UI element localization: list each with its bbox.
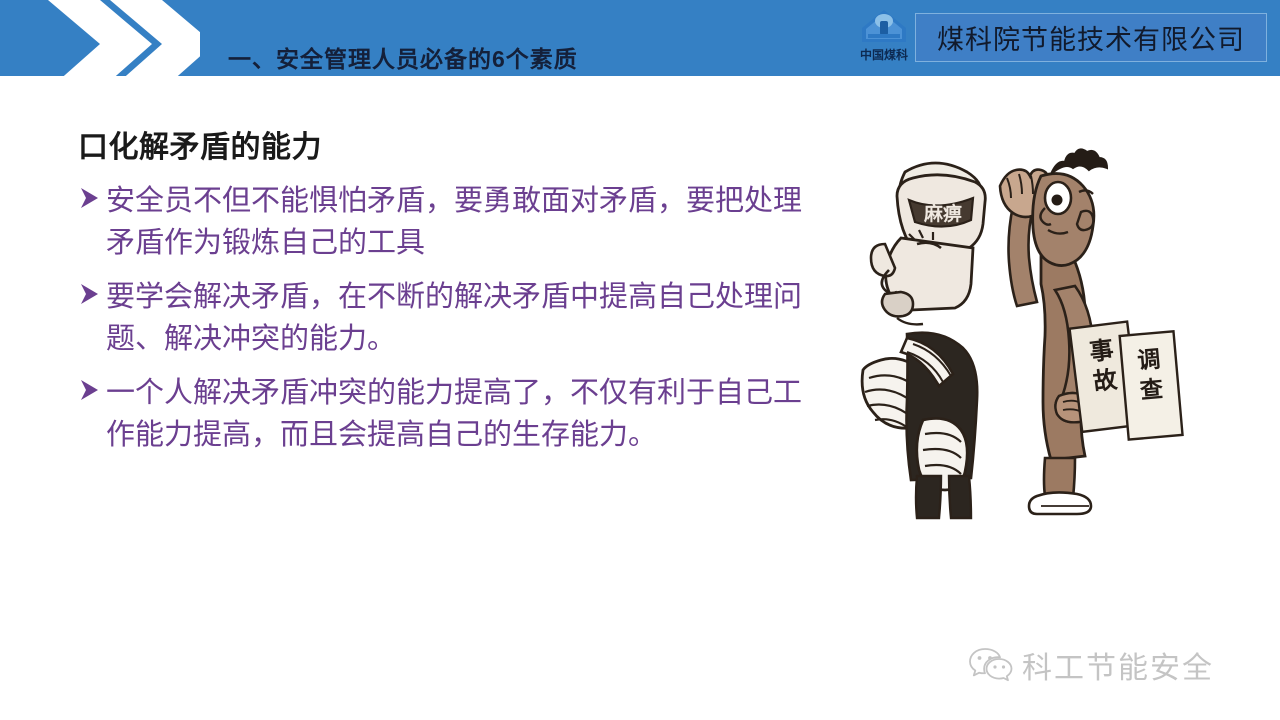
bullet-list: 安全员不但不能惧怕矛盾，要勇敢面对矛盾，要把处理矛盾作为锻炼自己的工具 要学会解… [78, 180, 808, 456]
list-item-label: 安全员不但不能惧怕矛盾，要勇敢面对矛盾，要把处理矛盾作为锻炼自己的工具 [106, 185, 802, 259]
watermark: 科工节能安全 [968, 640, 1258, 690]
list-item-label: 一个人解决矛盾冲突的能力提高了，不仅有利于自己工作能力提高，而且会提高自己的生存… [106, 377, 802, 451]
page-title: 一、安全管理人员必备的6个素质 [228, 44, 578, 74]
list-item-label: 要学会解决矛盾，在不断的解决矛盾中提高自己处理问题、解决冲突的能力。 [106, 281, 802, 355]
arrowhead-right-bullet-icon [78, 374, 100, 408]
accident-investigation-cartoon-illustration: 事 故 调 查 麻痹 [845, 138, 1195, 520]
wechat-logo-icon [968, 646, 1014, 684]
company-name-box: 煤科院节能技术有限公司 [915, 13, 1267, 62]
list-item: 一个人解决矛盾冲突的能力提高了，不仅有利于自己工作能力提高，而且会提高自己的生存… [78, 372, 808, 456]
list-item: 安全员不但不能惧怕矛盾，要勇敢面对矛盾，要把处理矛盾作为锻炼自己的工具 [78, 180, 808, 264]
arrowhead-right-bullet-icon [78, 182, 100, 216]
arrowhead-right-bullet-icon [78, 278, 100, 312]
slide-content: 口化解矛盾的能力 安全员不但不能惧怕矛盾，要勇敢面对矛盾，要把处理矛盾作为锻炼自… [78, 128, 808, 468]
slide-canvas: 一、安全管理人员必备的6个素质 中国煤科 煤科院节能技术有限公司 口化解矛盾的能… [0, 0, 1280, 720]
svg-text:查: 查 [1139, 376, 1164, 404]
company-name: 煤科院节能技术有限公司 [937, 18, 1245, 57]
watermark-label: 科工节能安全 [1022, 643, 1214, 687]
list-item: 要学会解决矛盾，在不断的解决矛盾中提高自己处理问题、解决冲突的能力。 [78, 276, 808, 360]
svg-text:调: 调 [1136, 347, 1161, 375]
brand-logo-caption: 中国煤科 [848, 48, 920, 62]
china-coal-science-logo-icon [858, 8, 910, 48]
section-heading: 口化解矛盾的能力 [78, 128, 808, 168]
svg-text:事: 事 [1088, 336, 1115, 367]
svg-text:故: 故 [1092, 365, 1120, 396]
brand-logo: 中国煤科 [848, 8, 920, 70]
svg-text:麻痹: 麻痹 [923, 202, 962, 225]
